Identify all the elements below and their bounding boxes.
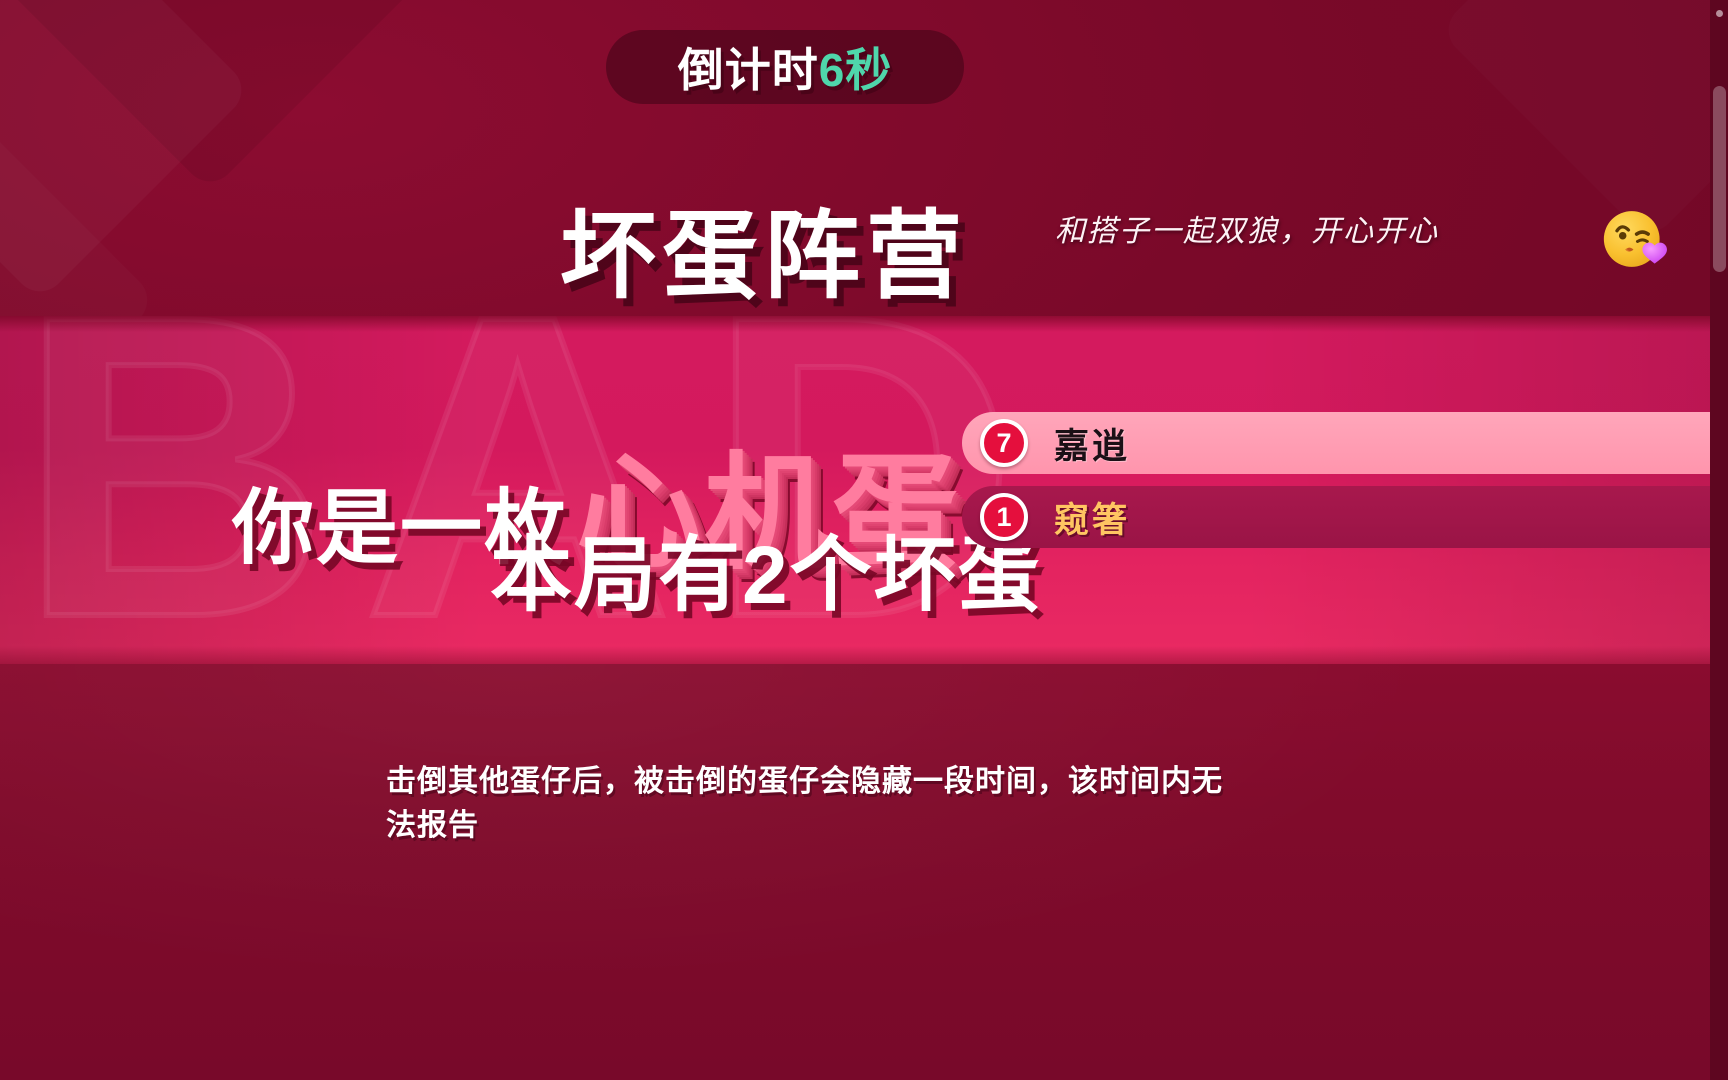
headline-line-2: 本局有2个坏蛋 xyxy=(490,508,1042,627)
teammate-list: 7 嘉逍 1 窥箸 xyxy=(962,412,1728,560)
countdown-prefix: 倒计时 xyxy=(678,44,819,96)
list-item[interactable]: 7 嘉逍 xyxy=(962,412,1728,474)
background-diamond-shape xyxy=(1438,0,1728,242)
player-name: 窥箸 xyxy=(1054,492,1130,543)
game-role-reveal-screen: BAD BAD 倒计时6秒 坏蛋阵营 和搭子一起双狼，开心开心 xyxy=(0,0,1728,1080)
band-top-shadow xyxy=(0,316,1728,332)
countdown-pill: 倒计时6秒 xyxy=(606,30,964,104)
faction-title: 坏蛋阵营 xyxy=(560,178,968,317)
player-number-badge: 1 xyxy=(980,493,1028,541)
scrollbar-thumb[interactable] xyxy=(1713,86,1726,272)
handwritten-note: 和搭子一起双狼，开心开心 xyxy=(1055,206,1439,250)
kissing-face-with-heart-icon xyxy=(1594,198,1676,280)
countdown-text: 倒计时6秒 xyxy=(678,34,893,100)
player-number-badge: 7 xyxy=(980,419,1028,467)
band-bottom-shadow xyxy=(0,646,1728,664)
player-name: 嘉逍 xyxy=(1054,418,1130,469)
background-lower-panel xyxy=(0,664,1728,1080)
countdown-suffix: 秒 xyxy=(845,44,892,96)
status-dot xyxy=(1716,10,1723,17)
ability-description: 击倒其他蛋仔后，被击倒的蛋仔会隐藏一段时间，该时间内无法报告 xyxy=(386,760,1226,848)
countdown-seconds: 6 xyxy=(819,44,846,96)
list-item[interactable]: 1 窥箸 xyxy=(962,486,1728,548)
scrollbar-track[interactable] xyxy=(1710,0,1728,1080)
